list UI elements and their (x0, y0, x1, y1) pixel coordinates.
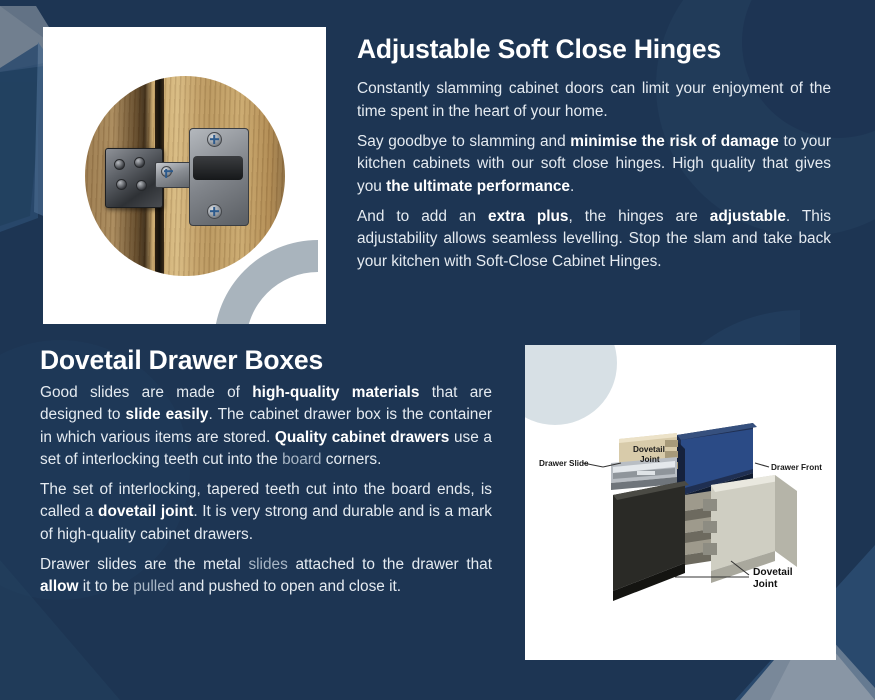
hinge-image-card (43, 27, 326, 324)
hinges-text-block: Adjustable Soft Close Hinges Constantly … (357, 34, 831, 281)
paragraph: Constantly slamming cabinet doors can li… (357, 78, 831, 123)
text-run: corners. (322, 451, 382, 468)
paragraph: Say goodbye to slamming and minimise the… (357, 131, 831, 198)
cabinet-hinge-photo (85, 76, 285, 276)
emphasis-text: the ultimate performance (386, 178, 570, 195)
emphasis-text: allow (40, 578, 78, 595)
text-run: Drawer slides are the metal (40, 556, 248, 573)
text-run: , the hinges are (568, 208, 709, 225)
text-run: Good slides are made of (40, 384, 252, 401)
page-title-drawers: Dovetail Drawer Boxes (40, 345, 510, 375)
hinges-paragraphs: Constantly slamming cabinet doors can li… (357, 78, 831, 272)
label-dovetail-joint-top-line2: Joint (640, 455, 660, 464)
dim-text: board (282, 451, 321, 468)
dim-text: slides (248, 556, 287, 573)
label-dovetail-joint-top-line1: Dovetail (633, 445, 665, 454)
deco-triangle-navy-left (0, 44, 38, 232)
label-dovetail-joint-bottom-line1: Dovetail (753, 567, 793, 578)
screw-top (207, 132, 222, 147)
paragraph: Drawer slides are the metal slides attac… (40, 554, 492, 599)
slide-page: Adjustable Soft Close Hinges Constantly … (0, 0, 875, 700)
emphasis-text: high-quality materials (252, 384, 419, 401)
emphasis-text: slide easily (126, 406, 209, 423)
dovetail-image-card: Drawer Slide Dovetail Joint Drawer Front… (525, 345, 836, 660)
soft-close-damper (193, 156, 243, 180)
screw-bottom (207, 204, 222, 219)
text-run: . (570, 178, 574, 195)
text-run: and pushed to open and close it. (174, 578, 401, 595)
emphasis-text: Quality cabinet drawers (275, 429, 449, 446)
emphasis-text: adjustable (710, 208, 786, 225)
page-title-hinges: Adjustable Soft Close Hinges (357, 34, 831, 64)
paragraph: Good slides are made of high-quality mat… (40, 382, 492, 471)
text-run: Constantly slamming cabinet doors can li… (357, 80, 831, 119)
label-drawer-slide: Drawer Slide (539, 459, 589, 468)
label-drawer-front: Drawer Front (771, 463, 822, 472)
drawers-paragraphs: Good slides are made of high-quality mat… (40, 382, 492, 607)
text-run: it to be (78, 578, 133, 595)
paragraph: The set of interlocking, tapered teeth c… (40, 479, 492, 546)
emphasis-text: dovetail joint (98, 503, 193, 520)
dovetail-drawer-diagram: Drawer Slide Dovetail Joint Drawer Front… (525, 345, 836, 660)
dim-text: pulled (133, 578, 174, 595)
screw-arm (161, 166, 172, 177)
drawer-title-block: Dovetail Drawer Boxes (40, 345, 510, 375)
text-run: attached to the drawer that (288, 556, 492, 573)
emphasis-text: extra plus (488, 208, 568, 225)
deco-triangle-navy-left-2 (0, 66, 44, 226)
emphasis-text: minimise the risk of damage (570, 133, 779, 150)
paragraph: And to add an extra plus, the hinges are… (357, 206, 831, 273)
text-run: And to add an (357, 208, 488, 225)
text-run: Say goodbye to slamming and (357, 133, 570, 150)
label-dovetail-joint-bottom-line2: Joint (753, 579, 778, 590)
